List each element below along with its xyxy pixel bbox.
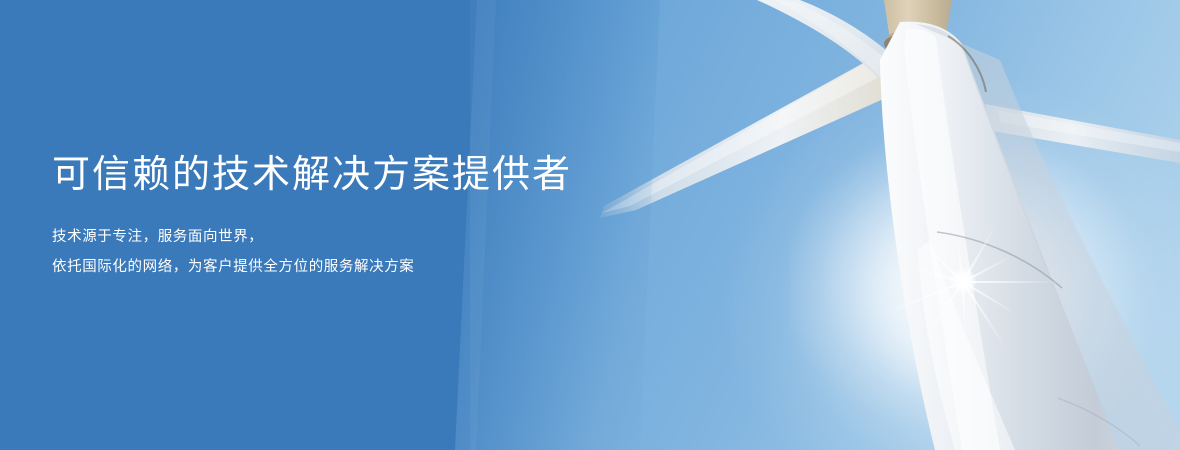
banner-copy: 可信赖的技术解决方案提供者 技术源于专注，服务面向世界， 依托国际化的网络，为客… <box>52 150 652 282</box>
subtitle-line-1: 技术源于专注，服务面向世界， <box>52 222 652 252</box>
sun-ray <box>963 281 1059 283</box>
subtitle-line-2: 依托国际化的网络，为客户提供全方位的服务解决方案 <box>52 252 652 282</box>
banner-subtitle: 技术源于专注，服务面向世界， 依托国际化的网络，为客户提供全方位的服务解决方案 <box>52 222 652 282</box>
page-title: 可信赖的技术解决方案提供者 <box>52 150 652 200</box>
hero-banner: 可信赖的技术解决方案提供者 技术源于专注，服务面向世界， 依托国际化的网络，为客… <box>0 0 1180 450</box>
sun-core <box>950 268 976 294</box>
